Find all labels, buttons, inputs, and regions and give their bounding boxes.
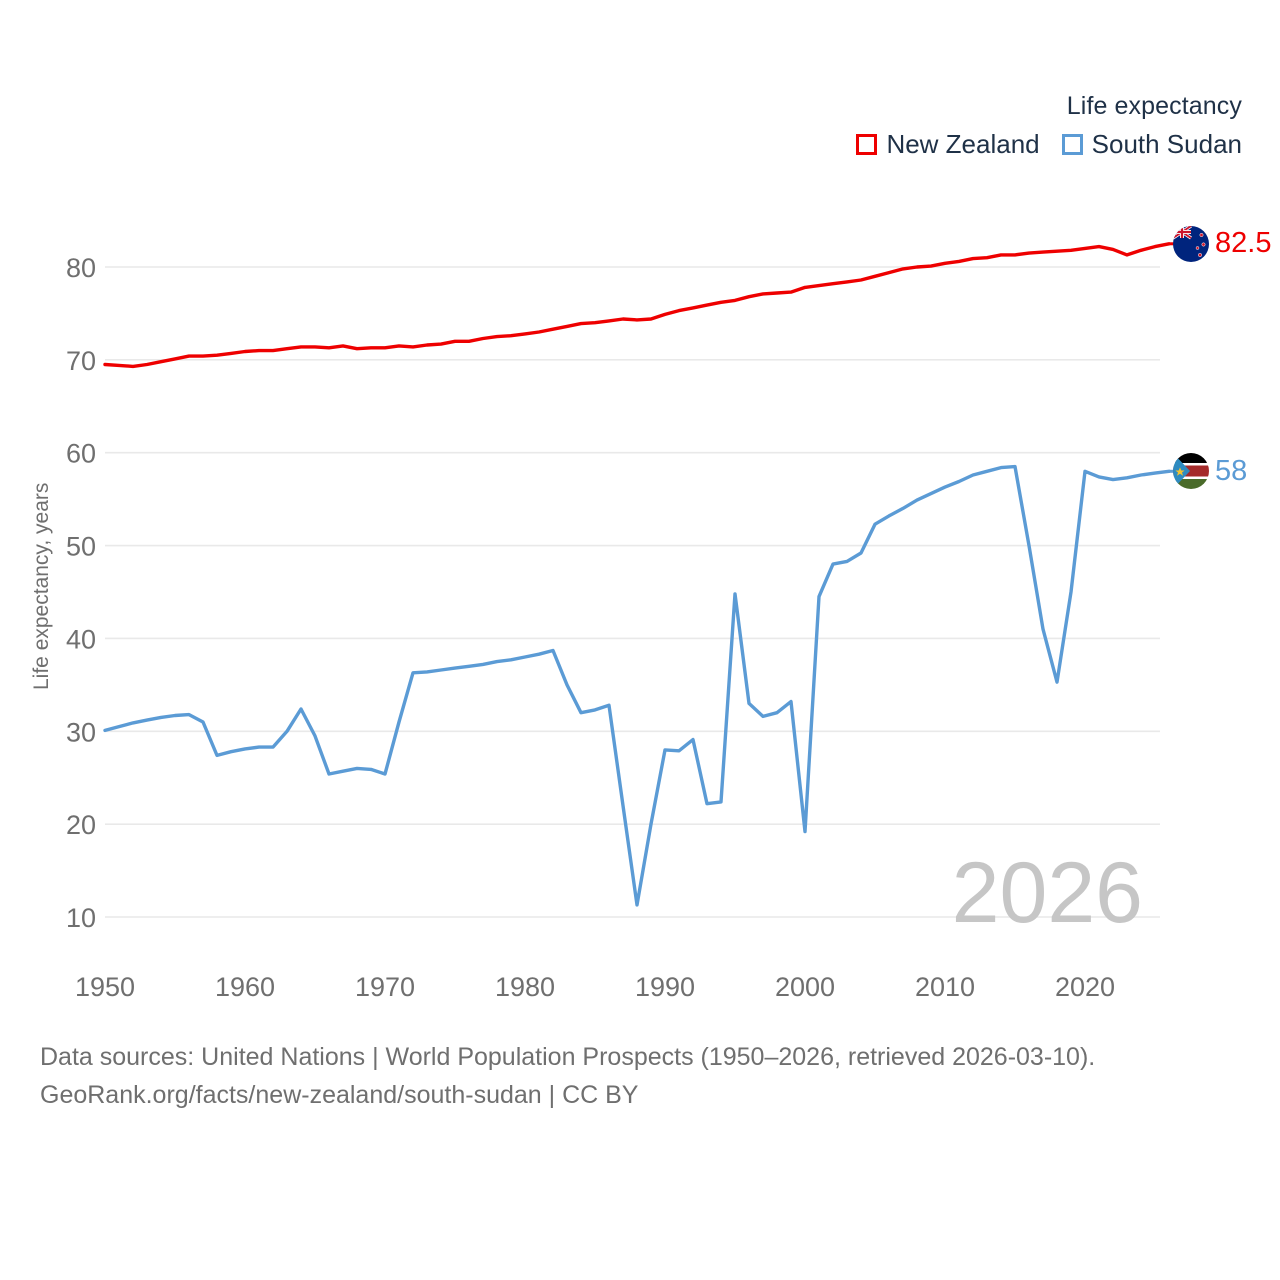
- series-line-new-zealand: [105, 244, 1169, 367]
- x-tick-label: 2010: [915, 972, 975, 1002]
- series-lines: [105, 244, 1181, 905]
- plot-area: 1020304050607080 19501960197019801990200…: [0, 0, 1280, 1010]
- x-tick-label: 1980: [495, 972, 555, 1002]
- x-tick-label: 1990: [635, 972, 695, 1002]
- new-zealand-flag-icon: [1173, 226, 1209, 262]
- y-axis-title: Life expectancy, years: [30, 483, 53, 690]
- x-tick-label: 1950: [75, 972, 135, 1002]
- footer-credits: Data sources: United Nations | World Pop…: [40, 1038, 1240, 1114]
- end-marker-south-sudan[interactable]: 58: [1173, 453, 1247, 489]
- life-expectancy-chart-page: Life expectancy New Zealand South Sudan …: [0, 0, 1280, 1280]
- x-tick-label: 2000: [775, 972, 835, 1002]
- year-watermark: 2026: [952, 845, 1143, 941]
- y-tick-label: 10: [66, 903, 96, 933]
- gridlines: [105, 267, 1160, 917]
- y-tick-label: 80: [66, 253, 96, 283]
- x-axis-tick-labels: 19501960197019801990200020102020: [75, 972, 1115, 1002]
- y-tick-label: 50: [66, 532, 96, 562]
- south-sudan-flag-icon: [1173, 453, 1209, 489]
- y-tick-label: 60: [66, 439, 96, 469]
- x-tick-label: 1960: [215, 972, 275, 1002]
- end-value-south-sudan: 58: [1215, 457, 1247, 486]
- y-axis-tick-labels: 1020304050607080: [66, 253, 96, 933]
- chart-svg: 1020304050607080 19501960197019801990200…: [0, 0, 1280, 1010]
- y-tick-label: 40: [66, 624, 96, 654]
- footer-line-sources: Data sources: United Nations | World Pop…: [40, 1038, 1240, 1076]
- y-tick-label: 30: [66, 717, 96, 747]
- series-line-south-sudan: [105, 467, 1169, 905]
- x-tick-label: 1970: [355, 972, 415, 1002]
- end-value-new-zealand: 82.5: [1215, 229, 1271, 258]
- end-marker-new-zealand[interactable]: 82.5: [1173, 226, 1271, 262]
- footer-line-url: GeoRank.org/facts/new-zealand/south-suda…: [40, 1076, 1240, 1114]
- x-tick-label: 2020: [1055, 972, 1115, 1002]
- y-tick-label: 20: [66, 810, 96, 840]
- y-tick-label: 70: [66, 346, 96, 376]
